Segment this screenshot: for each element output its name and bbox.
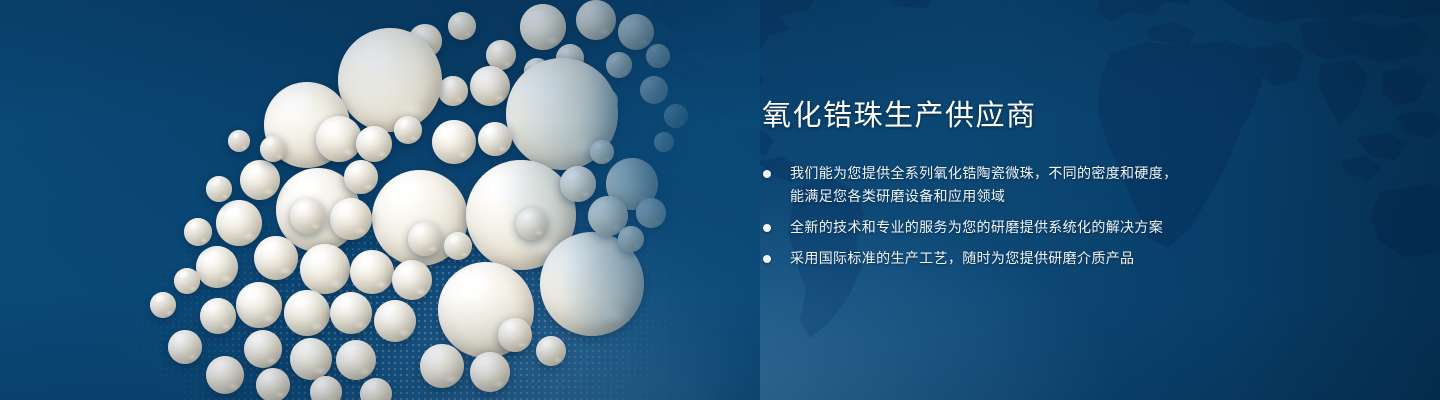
list-item-line1: 采用国际标准的生产工艺，随时为您提供研磨介质产品 bbox=[790, 247, 1232, 270]
banner-headline: 氧化锆珠生产供应商 bbox=[762, 96, 1232, 136]
list-item-line2: 能满足您各类研磨设备和应用领域 bbox=[790, 185, 1232, 208]
list-item-line1: 我们能为您提供全系列氧化锆陶瓷微珠，不同的密度和硬度， bbox=[790, 162, 1232, 185]
banner-content: 氧化锆珠生产供应商 我们能为您提供全系列氧化锆陶瓷微珠，不同的密度和硬度， 能满… bbox=[762, 96, 1232, 270]
feature-list: 我们能为您提供全系列氧化锆陶瓷微珠，不同的密度和硬度， 能满足您各类研磨设备和应… bbox=[762, 162, 1232, 270]
list-item: 我们能为您提供全系列氧化锆陶瓷微珠，不同的密度和硬度， 能满足您各类研磨设备和应… bbox=[762, 162, 1232, 208]
list-item-line1: 全新的技术和专业的服务为您的研磨提供系统化的解决方案 bbox=[790, 216, 1232, 239]
bullet-dot-icon bbox=[763, 170, 771, 178]
promo-banner: 氧化锆珠生产供应商 我们能为您提供全系列氧化锆陶瓷微珠，不同的密度和硬度， 能满… bbox=[0, 0, 1440, 400]
bullet-dot-icon bbox=[763, 255, 771, 263]
bullet-dot-icon bbox=[763, 224, 771, 232]
list-item: 全新的技术和专业的服务为您的研磨提供系统化的解决方案 bbox=[762, 216, 1232, 239]
list-item: 采用国际标准的生产工艺，随时为您提供研磨介质产品 bbox=[762, 247, 1232, 270]
